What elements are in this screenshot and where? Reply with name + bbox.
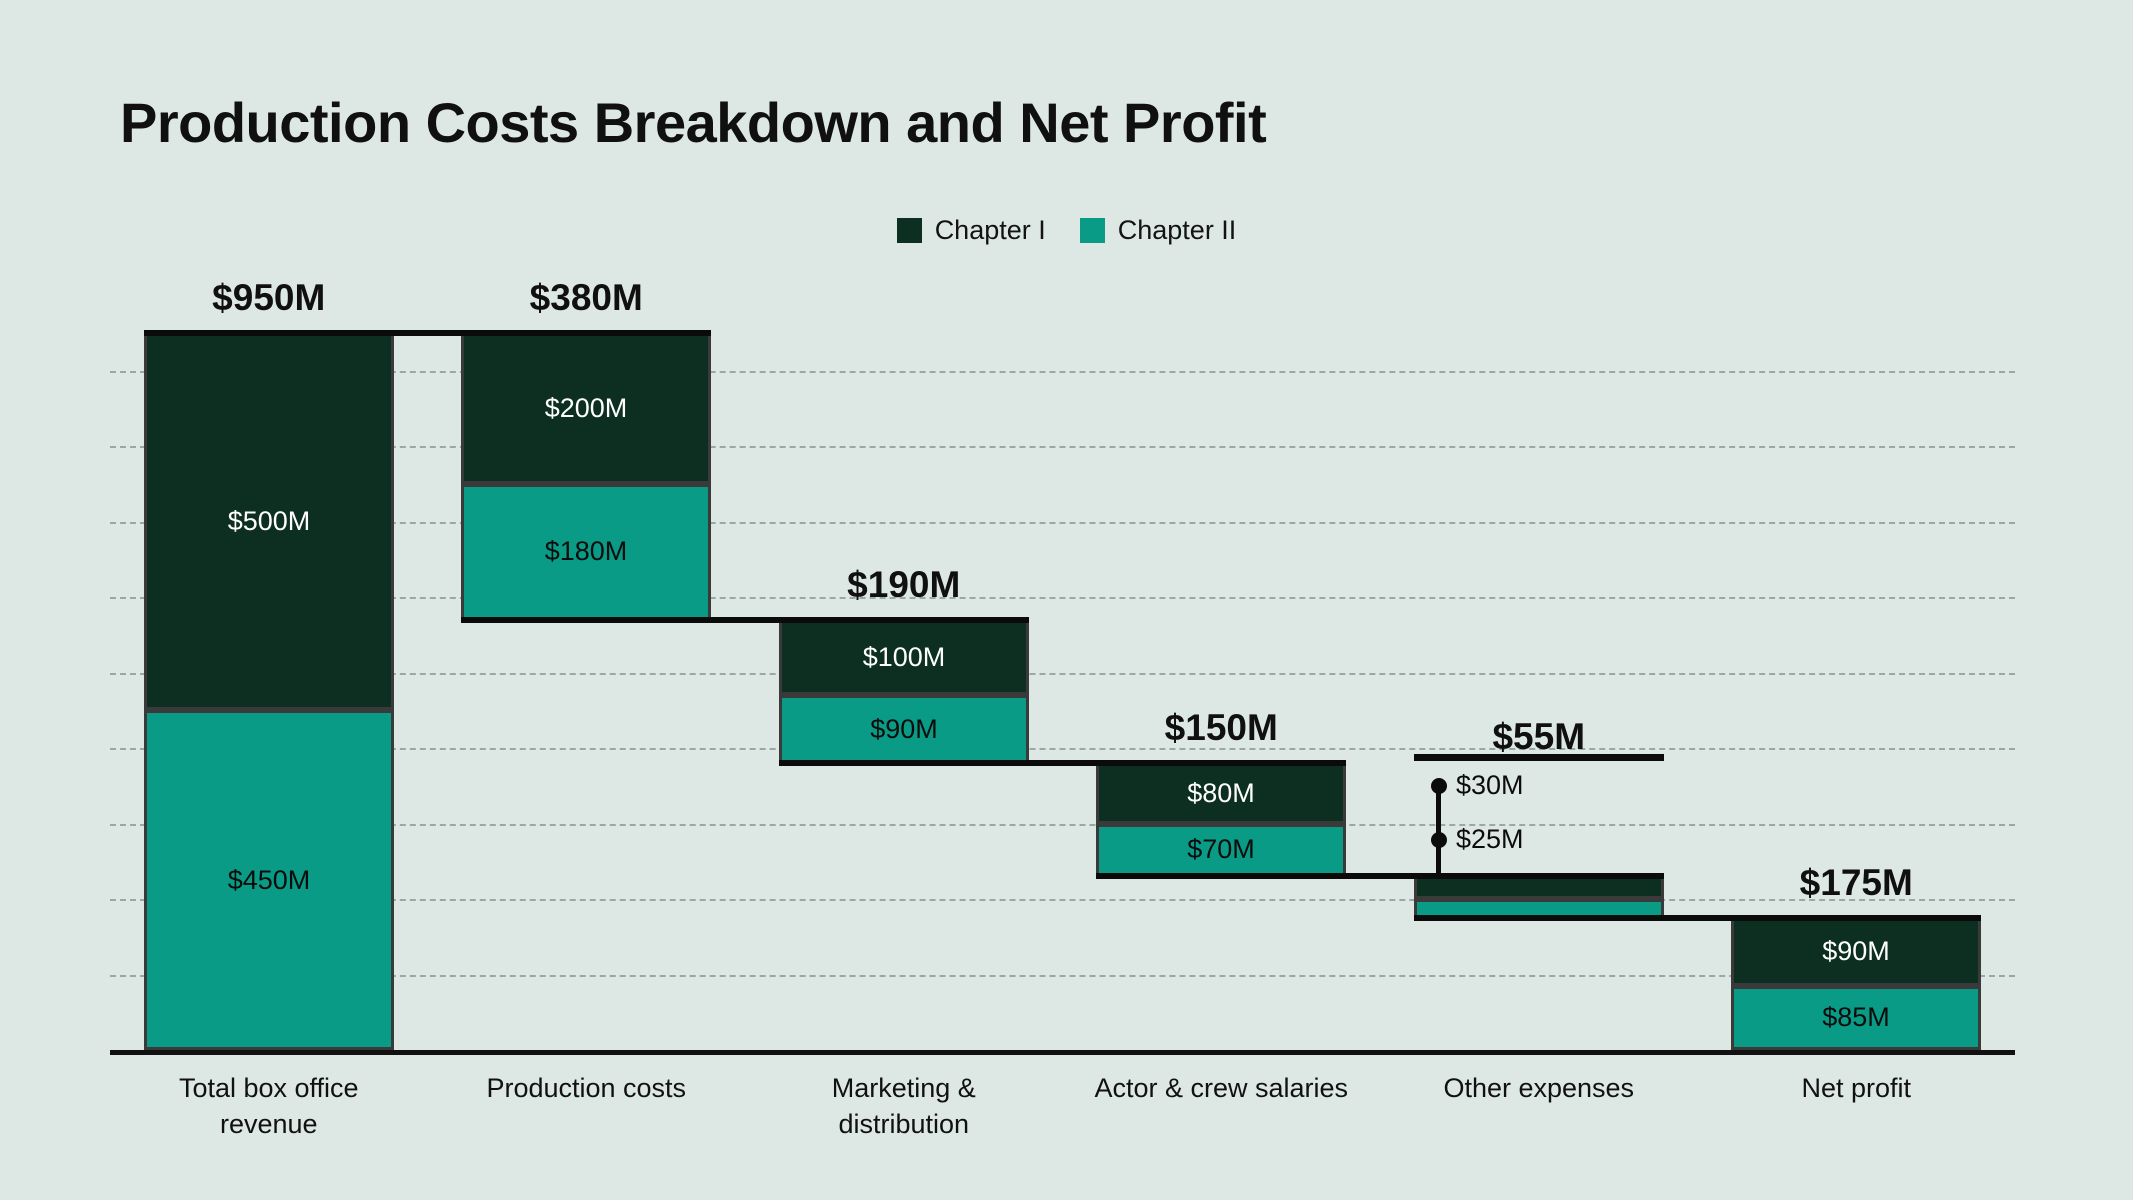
category-label-line-1: Production costs: [428, 1070, 746, 1106]
x-axis-category-label: Net profit: [1698, 1070, 2016, 1106]
bar-total-label: $380M: [386, 277, 786, 319]
bar-segment-label: $90M: [870, 716, 938, 743]
bar-segment-chapter-1[interactable]: $90M: [1731, 918, 1981, 986]
category-label-line-1: Actor & crew salaries: [1063, 1070, 1381, 1106]
callout-dot-icon: [1431, 778, 1447, 794]
bar-1[interactable]: $500M$450M: [144, 333, 394, 1050]
x-axis-category-label: Production costs: [428, 1070, 746, 1106]
bar-4[interactable]: $80M$70M: [1096, 763, 1346, 876]
category-label-line-1: Total box office: [110, 1070, 428, 1106]
bar-segment-chapter-2[interactable]: $90M: [779, 695, 1029, 763]
bar-segment-chapter-1[interactable]: $500M: [144, 333, 394, 710]
category-label-line-1: Other expenses: [1380, 1070, 1698, 1106]
gridline: [110, 824, 2015, 826]
plot-area: $500M$450M$950MTotal box officerevenue$2…: [0, 0, 2133, 1200]
callout-label: $25M: [1456, 824, 1524, 855]
callout-dot-icon: [1431, 832, 1447, 848]
chart-root: Production Costs Breakdown and Net Profi…: [0, 0, 2133, 1200]
bar-2[interactable]: $200M$180M: [461, 333, 711, 620]
waterfall-connector-final: [1414, 915, 1981, 921]
category-label-line-1: Net profit: [1698, 1070, 2016, 1106]
bar-segment-label: $90M: [1822, 938, 1890, 965]
x-axis-category-label: Actor & crew salaries: [1063, 1070, 1381, 1106]
bar-5[interactable]: [1414, 876, 1664, 918]
x-axis-line: [110, 1050, 2015, 1055]
waterfall-connector-3: [779, 760, 1346, 766]
callout-label: $30M: [1456, 770, 1524, 801]
bar-total-label: $55M: [1339, 716, 1739, 758]
bar-segment-label: $500M: [228, 508, 311, 535]
bar-segment-chapter-2[interactable]: $70M: [1096, 824, 1346, 877]
gridline: [110, 975, 2015, 977]
gridline: [110, 673, 2015, 675]
gridline: [110, 446, 2015, 448]
callout-leader-line: [1436, 786, 1441, 876]
category-label-line-2: distribution: [745, 1106, 1063, 1142]
category-label-line-1: Marketing &: [745, 1070, 1063, 1106]
bar-segment-chapter-2[interactable]: $180M: [461, 484, 711, 620]
waterfall-connector-4: [1096, 873, 1664, 879]
bar-segment-label: $180M: [545, 538, 628, 565]
bar-6[interactable]: $90M$85M: [1731, 918, 1981, 1050]
bar-total-marker-line: [1414, 754, 1664, 761]
bar-3[interactable]: $100M$90M: [779, 620, 1029, 763]
gridline: [110, 522, 2015, 524]
bar-segment-chapter-1[interactable]: $80M: [1096, 763, 1346, 823]
bar-segment-label: $70M: [1187, 836, 1255, 863]
bar-segment-chapter-1[interactable]: $200M: [461, 333, 711, 484]
gridline: [110, 371, 2015, 373]
category-label-line-2: revenue: [110, 1106, 428, 1142]
waterfall-connector-1: [144, 330, 711, 336]
x-axis-category-label: Total box officerevenue: [110, 1070, 428, 1143]
bar-segment-chapter-2[interactable]: $450M: [144, 710, 394, 1050]
bar-segment-label: $80M: [1187, 780, 1255, 807]
bar-segment-chapter-2[interactable]: $85M: [1731, 986, 1981, 1050]
x-axis-category-label: Other expenses: [1380, 1070, 1698, 1106]
bar-segment-label: $200M: [545, 395, 628, 422]
bar-segment-label: $85M: [1822, 1004, 1890, 1031]
bar-total-label: $175M: [1656, 862, 2056, 904]
x-axis-category-label: Marketing &distribution: [745, 1070, 1063, 1143]
bar-total-label: $190M: [704, 564, 1104, 606]
bar-segment-label: $450M: [228, 867, 311, 894]
bar-segment-chapter-1[interactable]: $100M: [779, 620, 1029, 695]
bar-segment-label: $100M: [863, 644, 946, 671]
waterfall-connector-2: [461, 617, 1029, 623]
bar-segment-chapter-1[interactable]: [1414, 876, 1664, 899]
